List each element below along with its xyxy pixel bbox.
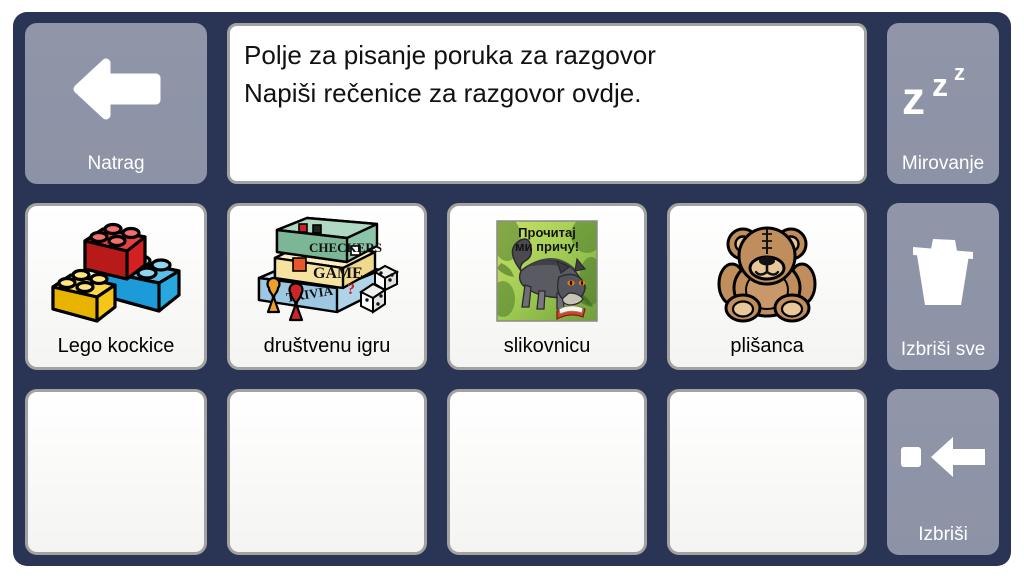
svg-text:z: z — [902, 72, 925, 122]
clear-all-button[interactable]: Izbriši sve — [887, 203, 999, 369]
empty-cell[interactable] — [667, 389, 867, 555]
backspace-button[interactable]: Izbriši — [887, 389, 999, 555]
back-button-label: Natrag — [87, 154, 144, 184]
symbol-label: plišanca — [730, 336, 803, 367]
teddy-bear-icon — [670, 206, 864, 335]
svg-text:GAME: GAME — [313, 265, 363, 282]
sleep-button-label: Mirovanje — [902, 154, 984, 184]
symbol-cell-board-game[interactable]: CHECKERS GAME TRIVIA ? — [227, 203, 427, 369]
aac-app-frame: Natrag Polje za pisanje poruka za razgov… — [13, 12, 1011, 566]
picture-book-wolf-icon: Прочитај ми причу! — [450, 206, 644, 335]
svg-text:CHECKERS: CHECKERS — [309, 240, 382, 255]
symbol-label: društvenu igru — [264, 336, 391, 367]
symbol-cell-picture-book[interactable]: Прочитај ми причу! slikovnicu — [447, 203, 647, 369]
symbol-cell-teddy-bear[interactable]: plišanca — [667, 203, 867, 369]
sleep-button[interactable]: z z z Mirovanje — [887, 23, 999, 184]
empty-cell[interactable] — [25, 389, 207, 555]
symbol-cell-lego[interactable]: Lego kockice — [25, 203, 207, 369]
backspace-arrow-icon — [887, 389, 999, 525]
aac-grid: Natrag Polje za pisanje poruka za razgov… — [25, 23, 999, 555]
symbol-label: slikovnicu — [504, 336, 591, 367]
book-title-line-2: ми причу! — [515, 239, 579, 254]
trash-can-icon — [887, 203, 999, 339]
message-line-1: Polje za pisanje poruka za razgovor — [244, 36, 850, 74]
svg-text:z: z — [954, 60, 965, 85]
back-button[interactable]: Natrag — [25, 23, 207, 184]
lego-bricks-icon — [28, 206, 204, 335]
backspace-button-label: Izbriši — [918, 525, 968, 555]
message-composition-field[interactable]: Polje za pisanje poruka za razgovor Napi… — [227, 23, 867, 184]
clear-all-button-label: Izbriši sve — [901, 340, 985, 370]
board-games-icon: CHECKERS GAME TRIVIA ? — [230, 206, 424, 335]
empty-cell[interactable] — [447, 389, 647, 555]
left-arrow-icon — [25, 23, 207, 154]
empty-cell[interactable] — [227, 389, 427, 555]
message-line-2: Napiši rečenice za razgovor ovdje. — [244, 74, 850, 112]
symbol-label: Lego kockice — [58, 336, 175, 367]
svg-text:?: ? — [347, 281, 355, 298]
book-title-line-1: Прочитај — [518, 225, 576, 240]
svg-text:z: z — [932, 67, 948, 103]
sleep-zzz-icon: z z z — [887, 23, 999, 154]
